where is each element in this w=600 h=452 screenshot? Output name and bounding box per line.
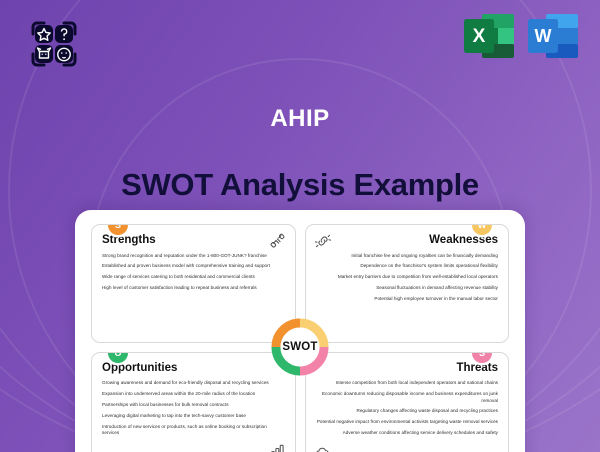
card-title-threats: Threats bbox=[316, 362, 499, 375]
list-item: Regulatory changes affecting waste dispo… bbox=[316, 408, 499, 415]
bar-chart-icon bbox=[270, 443, 286, 452]
svg-text:X: X bbox=[473, 26, 486, 47]
list-item: Established and proven business model wi… bbox=[102, 263, 285, 270]
swot-center-label: SWOT bbox=[269, 316, 331, 378]
svg-text:W: W bbox=[535, 26, 552, 46]
list-item: Growing awareness and demand for eco-fri… bbox=[102, 380, 285, 387]
bullet-list-strengths: Strong brand recognition and reputation … bbox=[102, 253, 285, 292]
card-title-weaknesses: Weaknesses bbox=[316, 234, 499, 247]
bullet-list-threats: Intense competition from both local inde… bbox=[316, 380, 499, 437]
swot-card-strengths[interactable]: S Strengths Strong brand recognition and… bbox=[91, 224, 296, 343]
swot-card-weaknesses[interactable]: W Weaknesses Initial franchise fee and o… bbox=[305, 224, 510, 343]
swot-center-donut: SWOT bbox=[269, 316, 331, 378]
storm-cloud-icon bbox=[315, 446, 330, 452]
card-title-opportunities: Opportunities bbox=[102, 362, 285, 375]
list-item: Dependence on the franchisor's system li… bbox=[316, 263, 499, 270]
excel-icon[interactable]: X bbox=[464, 10, 514, 62]
swot-card-opportunities[interactable]: O Opportunities Growing awareness and de… bbox=[91, 352, 296, 452]
bullet-list-weaknesses: Initial franchise fee and ongoing royalt… bbox=[316, 253, 499, 303]
page-title: SWOT Analysis Example bbox=[0, 167, 600, 203]
list-item: Initial franchise fee and ongoing royalt… bbox=[316, 253, 499, 260]
list-item: Potential high employee turnover in the … bbox=[316, 296, 499, 303]
card-title-strengths: Strengths bbox=[102, 234, 285, 247]
broken-chain-icon bbox=[315, 233, 331, 254]
slide-canvas: X W AHIP SWOT Analysis Example S bbox=[0, 0, 600, 452]
office-icons: X W bbox=[464, 10, 578, 62]
swot-panel: S Strengths Strong brand recognition and… bbox=[75, 210, 525, 452]
dumbbell-icon bbox=[270, 233, 286, 254]
list-item: Adverse weather conditions affecting ser… bbox=[316, 430, 499, 437]
list-item: Leveraging digital marketing to tap into… bbox=[102, 413, 285, 420]
list-item: Economic downturns reducing disposable i… bbox=[316, 391, 499, 404]
list-item: Seasonal fluctuations in demand affectin… bbox=[316, 285, 499, 292]
list-item: Strong brand recognition and reputation … bbox=[102, 253, 285, 260]
list-item: Market entry barriers due to competition… bbox=[316, 274, 499, 281]
list-item: High level of customer satisfaction lead… bbox=[102, 285, 285, 292]
brand-name: AHIP bbox=[0, 105, 600, 133]
list-item: Expansion into underserved areas within … bbox=[102, 391, 285, 398]
bullet-list-opportunities: Growing awareness and demand for eco-fri… bbox=[102, 380, 285, 437]
pet-grid-logo-icon[interactable] bbox=[28, 18, 80, 70]
list-item: Intense competition from both local inde… bbox=[316, 380, 499, 387]
word-icon[interactable]: W bbox=[528, 10, 578, 62]
list-item: Wide range of services catering to both … bbox=[102, 274, 285, 281]
list-item: Introduction of new services or products… bbox=[102, 424, 285, 437]
swot-grid: S Strengths Strong brand recognition and… bbox=[91, 224, 509, 452]
swot-card-threats[interactable]: S Threats Intense competition from both … bbox=[305, 352, 510, 452]
list-item: Partnerships with local businesses for b… bbox=[102, 402, 285, 409]
list-item: Potential negative impact from environme… bbox=[316, 419, 499, 426]
